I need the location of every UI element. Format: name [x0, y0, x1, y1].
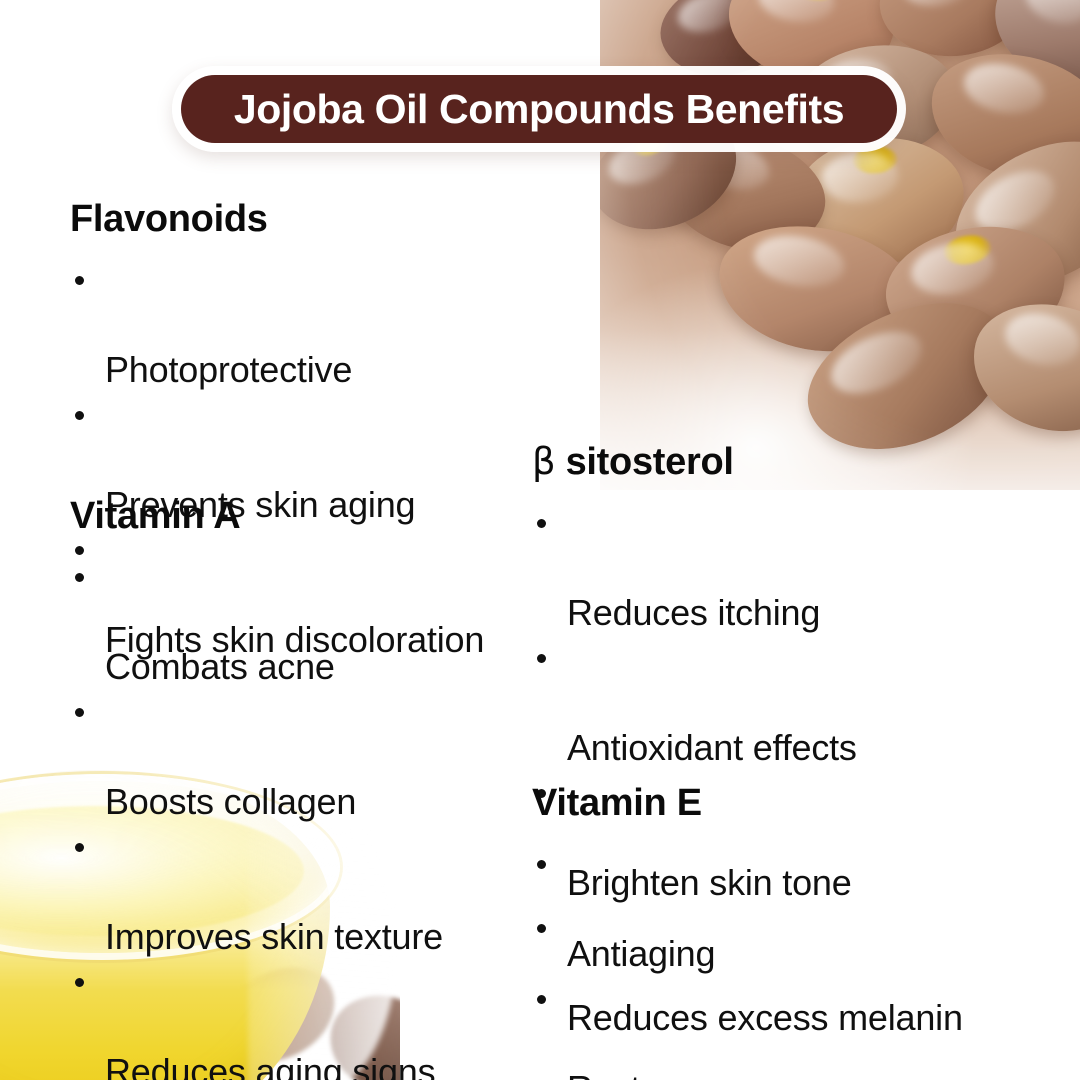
page-title: Jojoba Oil Compounds Benefits: [234, 86, 844, 133]
bullet-dot: [75, 978, 84, 987]
benefit-list: Combats acne Boosts collagen Improves sk…: [70, 554, 443, 1080]
bullet-dot: [75, 411, 84, 420]
list-item: Antioxidant effects: [532, 635, 963, 770]
bullet-dot: [75, 276, 84, 285]
section-heading: β sitosterol: [532, 440, 963, 484]
bullet-dot: [75, 573, 84, 582]
list-item: Reduces itching: [532, 500, 963, 635]
bullet-dot: [537, 860, 546, 869]
bullet-dot: [75, 708, 84, 717]
section-vitamin-e: Vitamin E Antiaging Restores Moisturizes…: [532, 782, 858, 1080]
list-item: Antiaging: [532, 841, 858, 976]
list-item-label: Combats acne: [105, 646, 335, 687]
list-item-label: Antiaging: [567, 933, 715, 974]
beta-symbol: β: [532, 440, 555, 483]
bullet-dot: [537, 995, 546, 1004]
title-banner: Jojoba Oil Compounds Benefits: [172, 66, 906, 152]
list-item: Restores: [532, 976, 858, 1080]
list-item: Photoprotective: [70, 257, 484, 392]
list-item-label: Reduces aging signs: [105, 1051, 435, 1080]
list-item-label: Restores: [567, 1068, 709, 1080]
list-item-label: Antioxidant effects: [567, 727, 857, 768]
section-heading: Vitamin A: [70, 495, 443, 538]
bullet-dot: [537, 519, 546, 528]
benefit-list: Antiaging Restores Moisturizes skin sun-…: [532, 841, 858, 1080]
list-item-label: Reduces itching: [567, 592, 820, 633]
list-item: Reduces aging signs: [70, 959, 443, 1080]
list-item-label: Photoprotective: [105, 349, 352, 390]
list-item: Improves skin texture: [70, 824, 443, 959]
title-banner-pill: Jojoba Oil Compounds Benefits: [181, 75, 897, 143]
section-vitamin-a: Vitamin A Combats acne Boosts collagen I…: [70, 495, 443, 1080]
bullet-dot: [75, 843, 84, 852]
infographic-canvas: Jojoba Oil Compounds Benefits Flavonoids…: [0, 0, 1080, 1080]
section-heading-label: sitosterol: [566, 441, 734, 483]
bullet-dot: [537, 654, 546, 663]
list-item-label: Boosts collagen: [105, 781, 356, 822]
list-item-label: Improves skin texture: [105, 916, 443, 957]
list-item: Boosts collagen: [70, 689, 443, 824]
list-item: Combats acne: [70, 554, 443, 689]
section-heading: Vitamin E: [532, 782, 858, 825]
section-heading: Flavonoids: [70, 198, 484, 241]
